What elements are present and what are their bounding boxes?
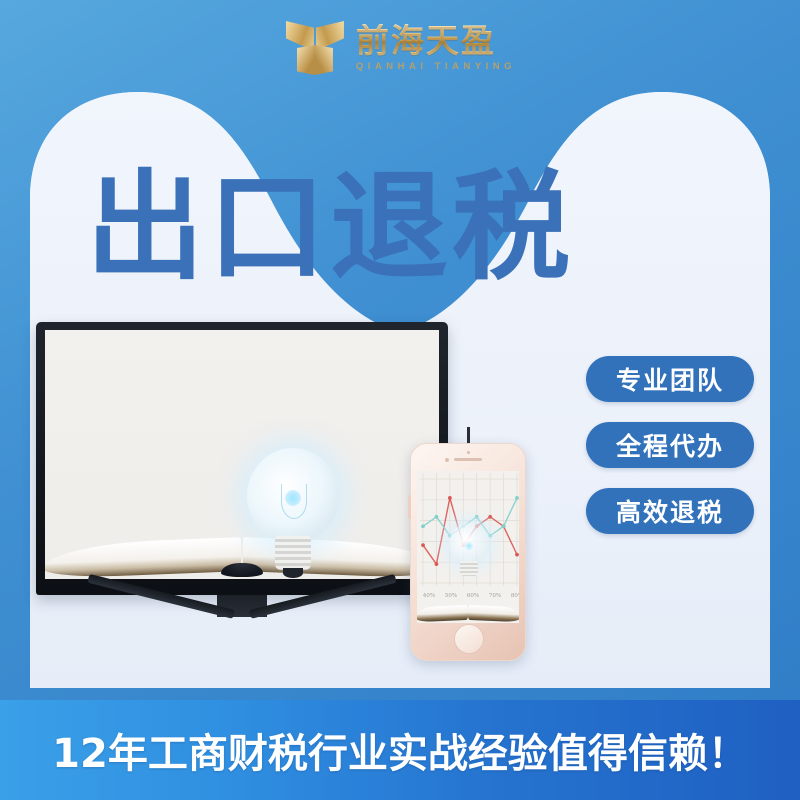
desktop-monitor: 024681010%20%30%40%50%60%70%80%90%100%: [36, 322, 448, 622]
monitor-screen: 024681010%20%30%40%50%60%70%80%90%100%: [45, 330, 439, 579]
phone-camera-icon: [445, 458, 449, 462]
bulb-glow: [285, 490, 301, 506]
book-page-left: [45, 537, 241, 579]
smartphone: 40%50%60%70%80%: [410, 443, 526, 661]
phone-open-book: [417, 603, 519, 623]
phone-speaker-icon: [454, 458, 482, 461]
bulb-screw-base: [275, 536, 311, 570]
bottom-banner: 12年工商财税行业实战经验值得信赖！: [0, 700, 800, 800]
phone-side-button[interactable]: [408, 495, 411, 519]
svg-text:50%: 50%: [445, 593, 457, 599]
phone-book-page-left: [417, 605, 468, 622]
phone-bulb-screw-base: [460, 561, 478, 576]
brand-name-en: QIANHAI TIANYING: [356, 62, 516, 72]
banner-text: 12年工商财税行业实战经验值得信赖！: [52, 721, 748, 779]
page-title: 出口退税: [0, 168, 660, 286]
monitor-bezel: 024681010%20%30%40%50%60%70%80%90%100%: [36, 322, 448, 595]
phone-sensor-icon: [467, 451, 470, 454]
brand-name-block: 前海天盈 QIANHAI TIANYING: [356, 24, 516, 72]
phone-bulb-glow: [464, 541, 474, 551]
phone-book-page-right: [468, 605, 519, 622]
badge-full-agency[interactable]: 全程代办: [586, 422, 754, 468]
brand-logo-bar: 前海天盈 QIANHAI TIANYING: [0, 0, 800, 96]
feature-badge-list: 专业团队 全程代办 高效退税: [586, 356, 754, 534]
line-chart: 024681010%20%30%40%50%60%70%80%90%100%: [45, 330, 439, 579]
svg-text:40%: 40%: [423, 593, 435, 599]
lightbulb-icon: [241, 448, 345, 579]
svg-text:80%: 80%: [511, 593, 519, 599]
poster-root: 前海天盈 QIANHAI TIANYING 出口退税 专业团队 全程代办 高效退…: [0, 0, 800, 800]
svg-text:60%: 60%: [467, 593, 479, 599]
badge-professional-team[interactable]: 专业团队: [586, 356, 754, 402]
phone-screen: 40%50%60%70%80%: [417, 471, 519, 623]
qianhai-tianying-logo-icon: [284, 17, 346, 79]
phone-home-button[interactable]: [454, 624, 484, 654]
svg-text:70%: 70%: [489, 593, 501, 599]
brand-name-cn: 前海天盈: [356, 24, 516, 57]
phone-lightbulb-icon: [447, 523, 491, 581]
bulb-tip: [283, 568, 303, 578]
badge-efficient-refund[interactable]: 高效退税: [586, 488, 754, 534]
